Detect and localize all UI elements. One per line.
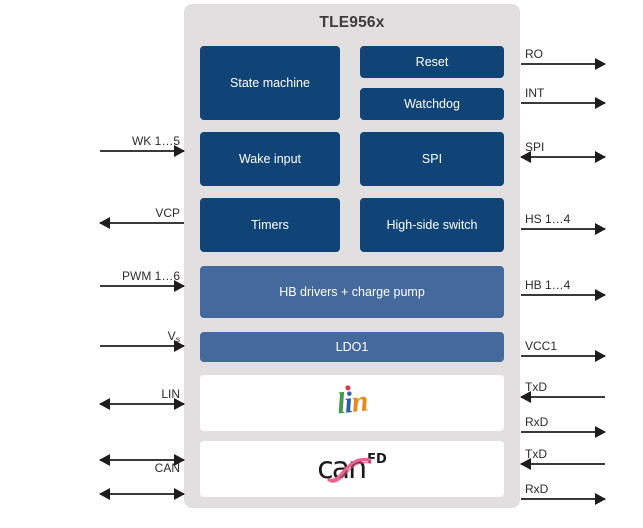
block-label: State machine bbox=[230, 76, 310, 91]
signal-label: PWM 1…6 bbox=[122, 269, 180, 283]
block-watchdog[interactable]: Watchdog bbox=[360, 88, 504, 120]
signal-label: Vs bbox=[168, 329, 180, 344]
signal-rxd-lin[interactable]: RxD bbox=[521, 418, 605, 440]
signal-line bbox=[521, 355, 605, 357]
block-can-fd-transceiver[interactable]: can FD bbox=[200, 441, 504, 497]
signal-line bbox=[521, 156, 605, 158]
arrow-left-icon bbox=[99, 488, 110, 500]
signal-label: SPI bbox=[525, 140, 544, 154]
can-logo-text: can bbox=[317, 451, 365, 486]
signal-label: TxD bbox=[525, 447, 547, 461]
block-reset[interactable]: Reset bbox=[360, 46, 504, 78]
arrow-right-icon bbox=[595, 350, 606, 362]
signal-label: LIN bbox=[161, 387, 180, 401]
signal-label: VCP bbox=[155, 206, 180, 220]
arrow-right-icon bbox=[595, 493, 606, 505]
signal-spi[interactable]: SPI bbox=[521, 143, 605, 165]
block-label: LDO1 bbox=[336, 340, 369, 355]
lin-logo: lin bbox=[335, 386, 368, 419]
signal-hb[interactable]: HB 1…4 bbox=[521, 281, 605, 303]
signal-line bbox=[100, 150, 184, 152]
block-lin-transceiver[interactable]: lin bbox=[200, 375, 504, 431]
block-label: Watchdog bbox=[404, 97, 460, 112]
block-spi[interactable]: SPI bbox=[360, 132, 504, 186]
signal-rxd-can[interactable]: RxD bbox=[521, 485, 605, 507]
arrow-left-icon bbox=[99, 454, 110, 466]
signal-label: RO bbox=[525, 47, 543, 61]
signal-line bbox=[521, 102, 605, 104]
block-label: High-side switch bbox=[386, 218, 477, 233]
signal-label: RxD bbox=[525, 415, 548, 429]
block-label: HB drivers + charge pump bbox=[279, 285, 425, 300]
signal-label: HS 1…4 bbox=[525, 212, 570, 226]
signal-label: VCC1 bbox=[525, 339, 557, 353]
signal-line bbox=[521, 498, 605, 500]
arrow-right-icon bbox=[174, 488, 185, 500]
signal-txd-can[interactable]: TxD bbox=[521, 450, 605, 472]
signal-pwm[interactable]: PWM 1…6 bbox=[100, 272, 184, 294]
block-hb-drivers-charge-pump[interactable]: HB drivers + charge pump bbox=[200, 266, 504, 318]
signal-label: HB 1…4 bbox=[525, 278, 570, 292]
block-high-side-switch[interactable]: High-side switch bbox=[360, 198, 504, 252]
block-timers[interactable]: Timers bbox=[200, 198, 340, 252]
signal-txd-lin[interactable]: TxD bbox=[521, 383, 605, 405]
block-label: SPI bbox=[422, 152, 442, 167]
block-ldo1[interactable]: LDO1 bbox=[200, 332, 504, 362]
can-fd-logo: can FD bbox=[317, 454, 387, 484]
arrow-right-icon bbox=[595, 289, 606, 301]
block-wake-input[interactable]: Wake input bbox=[200, 132, 340, 186]
signal-label: CAN bbox=[155, 461, 180, 475]
signal-label: TxD bbox=[525, 380, 547, 394]
arrow-right-icon bbox=[595, 58, 606, 70]
signal-label-main: V bbox=[168, 329, 176, 343]
signal-line bbox=[521, 228, 605, 230]
signal-line bbox=[100, 285, 184, 287]
arrow-right-icon bbox=[595, 426, 606, 438]
arrow-right-icon bbox=[595, 151, 606, 163]
can-logo-word: can bbox=[317, 454, 365, 484]
signal-line bbox=[100, 403, 184, 405]
signal-line bbox=[521, 463, 605, 465]
block-diagram-canvas: TLE956x State machine Reset Watchdog Wak… bbox=[0, 0, 643, 528]
signal-line bbox=[521, 63, 605, 65]
signal-hs[interactable]: HS 1…4 bbox=[521, 215, 605, 237]
signal-label: INT bbox=[525, 86, 544, 100]
signal-line bbox=[521, 431, 605, 433]
arrow-left-icon bbox=[99, 217, 110, 229]
signal-line bbox=[100, 222, 184, 224]
arrow-right-icon bbox=[595, 223, 606, 235]
signal-line bbox=[100, 345, 184, 347]
signal-vcp[interactable]: VCP bbox=[100, 209, 184, 231]
signal-wk[interactable]: WK 1…5 bbox=[100, 137, 184, 159]
signal-ro[interactable]: RO bbox=[521, 50, 605, 72]
signal-label: RxD bbox=[525, 482, 548, 496]
signal-vs[interactable]: Vs bbox=[100, 332, 184, 354]
can-logo-fd-suffix: FD bbox=[367, 452, 387, 468]
signal-line bbox=[521, 396, 605, 398]
signal-label-subscript: s bbox=[176, 334, 180, 344]
signal-int[interactable]: INT bbox=[521, 89, 605, 111]
signal-lin[interactable]: LIN bbox=[100, 390, 184, 412]
block-label: Timers bbox=[251, 218, 289, 233]
signal-vcc1[interactable]: VCC1 bbox=[521, 342, 605, 364]
block-label: Reset bbox=[416, 55, 449, 70]
signal-line bbox=[521, 294, 605, 296]
arrow-left-icon bbox=[99, 398, 110, 410]
signal-can-lower[interactable]: CAN bbox=[100, 480, 184, 502]
page-title: TLE956x bbox=[184, 14, 520, 32]
signal-label: WK 1…5 bbox=[132, 134, 180, 148]
block-state-machine[interactable]: State machine bbox=[200, 46, 340, 120]
block-label: Wake input bbox=[239, 152, 301, 167]
arrow-right-icon bbox=[595, 97, 606, 109]
signal-line bbox=[100, 493, 184, 495]
